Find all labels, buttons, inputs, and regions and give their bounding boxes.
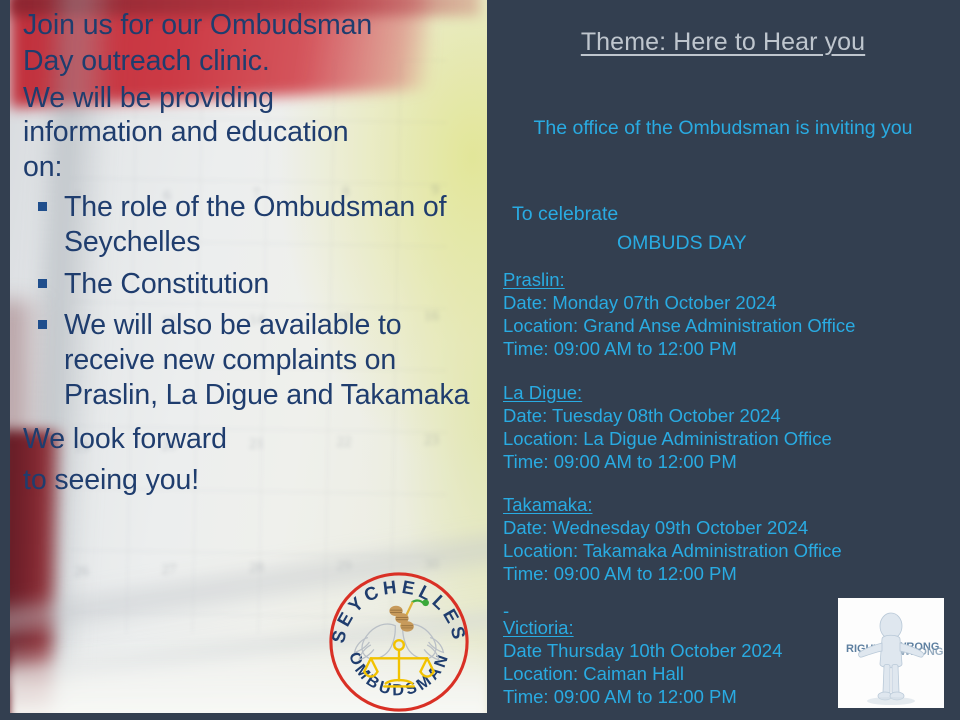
venue-location: Location: Grand Anse Administration Offi… <box>503 314 955 337</box>
closing-line: to seeing you! <box>23 463 485 497</box>
intro-line: information and education <box>23 115 485 149</box>
venue-item: La Digue: Date: Tuesday 08th October 202… <box>503 381 955 474</box>
celebrate-label: To celebrate <box>507 200 947 229</box>
seychelles-ombudsman-logo: SEYCHELLES OMBUDSMAN <box>325 568 473 714</box>
list-item: We will also be available to receive new… <box>23 308 485 413</box>
celebrate-event: OMBUDS DAY <box>507 229 947 258</box>
venue-date: Date: Tuesday 08th October 2024 <box>503 404 955 427</box>
closing-line: We look forward <box>23 422 485 456</box>
closing-block: We look forward to seeing you! <box>23 422 485 498</box>
celebrate-block: To celebrate OMBUDS DAY <box>507 200 947 259</box>
bullet-label: The role of the Ombudsman of Seychelles <box>64 190 485 260</box>
venue-date: Date: Wednesday 09th October 2024 <box>503 516 955 539</box>
venue-name: Praslin: <box>503 268 955 291</box>
venue-name: La Digue: <box>503 381 955 404</box>
venue-time: Time: 09:00 AM to 12:00 PM <box>503 450 955 473</box>
intro-line: We will be providing <box>23 81 485 115</box>
list-item: The Constitution <box>23 267 485 302</box>
page-title: Theme: Here to Hear you <box>513 28 933 57</box>
invitation-text: The office of the Ombudsman is inviting … <box>495 117 951 141</box>
bullet-label: We will also be available to receive new… <box>64 308 485 413</box>
slide-frame-bottom <box>0 713 497 720</box>
intro-line: on: <box>23 150 485 184</box>
list-item: The role of the Ombudsman of Seychelles <box>23 190 485 260</box>
bullet-label: The Constitution <box>64 267 269 302</box>
venue-time: Time: 09:00 AM to 12:00 PM <box>503 562 955 585</box>
venue-date: Date: Monday 07th October 2024 <box>503 291 955 314</box>
square-bullet-icon <box>38 320 47 329</box>
intro-line: Join us for our Ombudsman <box>23 8 485 42</box>
slide-frame-left <box>0 0 10 720</box>
slide-canvas: 5 6 7 8 9 12 13 14 15 16 19 20 21 22 23 <box>0 0 960 720</box>
venue-location: Location: Takamaka Administration Office <box>503 539 955 562</box>
square-bullet-icon <box>38 202 47 211</box>
venue-item: Takamaka: Date: Wednesday 09th October 2… <box>503 493 955 586</box>
left-panel: 5 6 7 8 9 12 13 14 15 16 19 20 21 22 23 <box>10 0 487 714</box>
venue-item: Praslin: Date: Monday 07th October 2024 … <box>503 268 955 361</box>
left-text-content: Join us for our Ombudsman Day outreach c… <box>23 8 485 505</box>
venue-time: Time: 09:00 AM to 12:00 PM <box>503 337 955 360</box>
venue-name: Takamaka: <box>503 493 955 516</box>
square-bullet-icon <box>38 279 47 288</box>
right-wrong-clipart: RIGHT WRONG WRONG <box>838 598 944 708</box>
intro-line: Day outreach clinic. <box>23 44 485 78</box>
venue-location: Location: La Digue Administration Office <box>503 427 955 450</box>
